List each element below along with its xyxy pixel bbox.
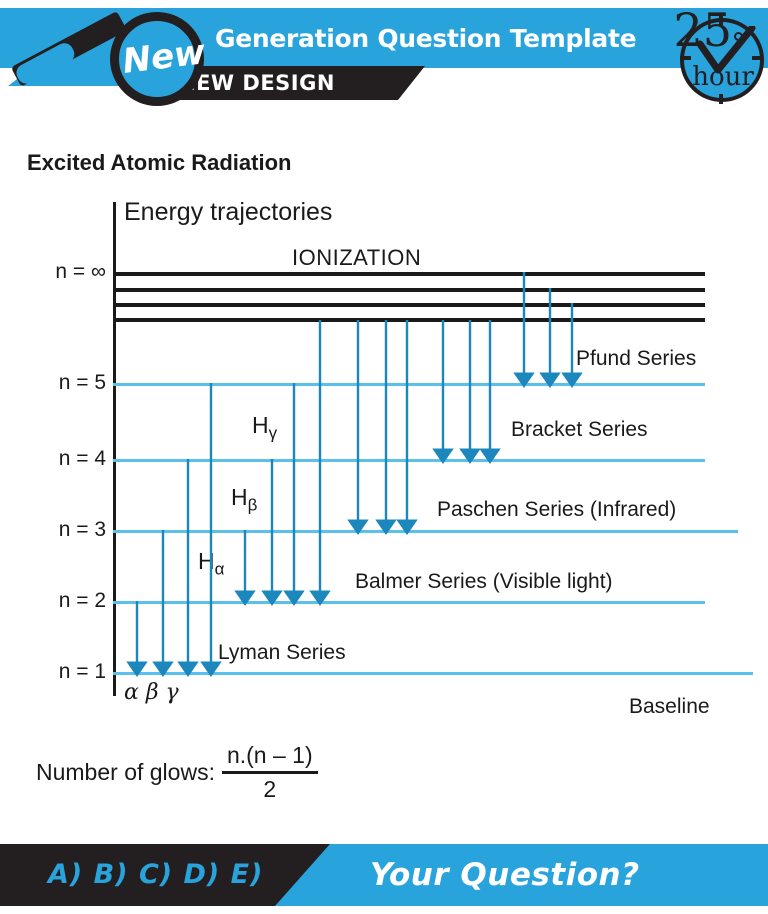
magnifier-handle-tip [13, 40, 77, 87]
header-title: Generation Question Template [215, 18, 635, 60]
clock-unit-label: hour [686, 60, 760, 94]
page-title: Excited Atomic Radiation [27, 150, 291, 176]
energy-level-diagram: n = ∞ n = 5 n = 4 n = 3 n = 2 n = 1 Pfun… [0, 180, 768, 700]
header-banner: Generation Question Template NEW DESIGN … [0, 0, 768, 120]
clock-degree-dot [734, 32, 743, 41]
clock-tick-bottom [719, 94, 723, 104]
footer-banner: A) B) C) D) E) Your Question? [0, 844, 768, 906]
clock-icon: 25 hour [662, 8, 758, 112]
clock-number: 25 [652, 2, 732, 58]
glows-formula-lead: Number of glows: [36, 759, 215, 786]
magnifier-icon: New [14, 8, 214, 112]
your-question-label[interactable]: Your Question? [370, 844, 750, 906]
transition-arrows [0, 180, 768, 700]
fraction-bar [222, 771, 318, 774]
glows-fraction: n.(n – 1) 2 [222, 742, 318, 802]
glows-denominator: 2 [263, 776, 276, 802]
glows-numerator: n.(n – 1) [222, 742, 318, 768]
glows-formula: Number of glows: n.(n – 1) 2 [36, 744, 318, 800]
answer-choices-label[interactable]: A) B) C) D) E) [48, 844, 288, 906]
